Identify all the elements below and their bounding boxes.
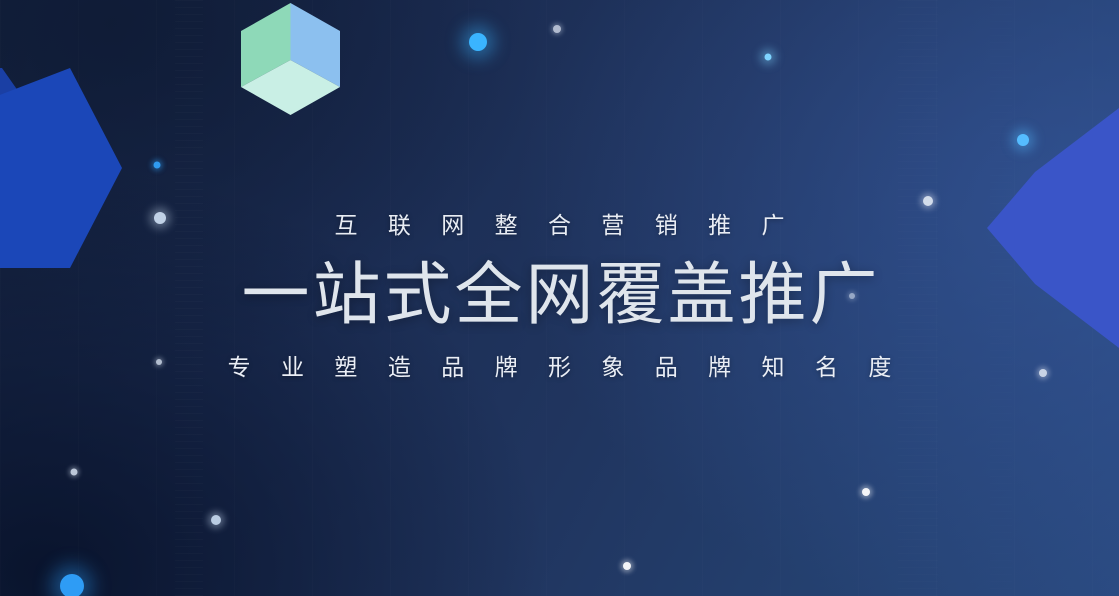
hero-headline: 一站式全网覆盖推广 xyxy=(0,261,1119,330)
hero-banner: 互 联 网 整 合 营 销 推 广 一站式全网覆盖推广 专 业 塑 造 品 牌 … xyxy=(0,0,1119,596)
hero-copy: 互 联 网 整 合 营 销 推 广 一站式全网覆盖推广 专 业 塑 造 品 牌 … xyxy=(0,214,1119,379)
hero-tagline: 专 业 塑 造 品 牌 形 象 品 牌 知 名 度 xyxy=(0,356,1119,379)
hero-eyebrow: 互 联 网 整 合 营 销 推 广 xyxy=(0,214,1119,237)
